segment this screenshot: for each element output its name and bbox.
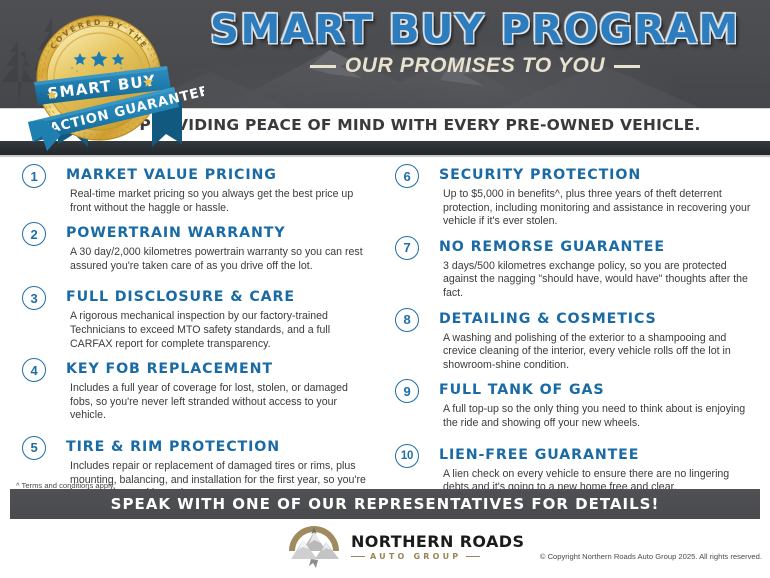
promise-item-6: 6 SECURITY PROTECTION Up to $5,000 in be… — [395, 165, 756, 229]
promise-heading-4: KEY FOB REPLACEMENT — [66, 359, 371, 379]
promise-number-4: 4 — [22, 358, 46, 382]
promises-content: 1 MARKET VALUE PRICING Real-time market … — [0, 157, 770, 475]
promise-number-5: 5 — [22, 436, 46, 460]
promise-item-1: 1 MARKET VALUE PRICING Real-time market … — [22, 165, 371, 215]
promise-body-9: A full top-up so the only thing you need… — [439, 403, 756, 430]
promise-body-7: 3 days/500 kilometres exchange policy, s… — [439, 260, 756, 301]
promise-heading-9: FULL TANK OF GAS — [439, 380, 756, 400]
logo-line-2-text: AUTO GROUP — [370, 553, 461, 561]
northern-roads-logo: NORTHERN ROADS AUTO GROUP — [285, 525, 524, 569]
promises-column-left: 1 MARKET VALUE PRICING Real-time market … — [0, 165, 385, 475]
page-footer: NORTHERN ROADS AUTO GROUP © Copyright No… — [0, 519, 770, 578]
promise-heading-5: TIRE & RIM PROTECTION — [66, 437, 371, 457]
promise-number-2: 2 — [22, 222, 46, 246]
promise-item-10: 10 LIEN-FREE GUARANTEE A lien check on e… — [395, 445, 756, 495]
promise-heading-7: NO REMORSE GUARANTEE — [439, 237, 756, 257]
subtitle-left-dash — [310, 65, 336, 68]
smart-buy-program-page: SMART BUY PROGRAM OUR PROMISES TO YOU PR… — [0, 0, 770, 578]
promise-number-3: 3 — [22, 286, 46, 310]
cta-banner[interactable]: SPEAK WITH ONE OF OUR REPRESENTATIVES FO… — [10, 489, 760, 519]
header-title-block: SMART BUY PROGRAM OUR PROMISES TO YOU — [190, 8, 760, 78]
promise-body-6: Up to $5,000 in benefits^, plus three ye… — [439, 188, 756, 229]
promise-body-8: A washing and polishing of the exterior … — [439, 332, 756, 373]
promise-number-8: 8 — [395, 308, 419, 332]
smart-buy-satisfaction-guarantee-badge: COVERED BY THE SMART BUY — [14, 4, 204, 154]
promise-item-7: 7 NO REMORSE GUARANTEE 3 days/500 kilome… — [395, 237, 756, 301]
promise-heading-2: POWERTRAIN WARRANTY — [66, 223, 371, 243]
promise-number-7: 7 — [395, 236, 419, 260]
page-title: SMART BUY PROGRAM — [190, 8, 760, 52]
guarantee-seal-icon: COVERED BY THE SMART BUY — [14, 4, 204, 154]
logo-line-2: AUTO GROUP — [351, 553, 524, 561]
promise-heading-3: FULL DISCLOSURE & CARE — [66, 287, 371, 307]
promise-item-9: 9 FULL TANK OF GAS A full top-up so the … — [395, 380, 756, 430]
promise-item-3: 3 FULL DISCLOSURE & CARE A rigorous mech… — [22, 287, 371, 351]
promise-body-3: A rigorous mechanical inspection by our … — [66, 310, 371, 351]
copyright-text: © Copyright Northern Roads Auto Group 20… — [540, 552, 762, 561]
subtitle-text: OUR PROMISES TO YOU — [345, 54, 605, 78]
logo-rule-left — [351, 556, 365, 557]
promise-heading-1: MARKET VALUE PRICING — [66, 165, 371, 185]
promise-body-4: Includes a full year of coverage for los… — [66, 382, 371, 423]
promise-heading-6: SECURITY PROTECTION — [439, 165, 756, 185]
promise-heading-10: LIEN-FREE GUARANTEE — [439, 445, 756, 465]
logo-line-1: NORTHERN ROADS — [351, 534, 524, 550]
promise-body-2: A 30 day/2,000 kilometres powertrain war… — [66, 246, 371, 273]
cta-text: SPEAK WITH ONE OF OUR REPRESENTATIVES FO… — [111, 495, 660, 513]
promise-number-10: 10 — [395, 444, 419, 468]
promise-number-1: 1 — [22, 164, 46, 188]
mountain-compass-logo-icon — [285, 525, 343, 569]
promises-column-right: 6 SECURITY PROTECTION Up to $5,000 in be… — [385, 165, 770, 475]
header-subtitle: OUR PROMISES TO YOU — [190, 54, 760, 78]
logo-rule-right — [466, 556, 480, 557]
promise-body-1: Real-time market pricing so you always g… — [66, 188, 371, 215]
promise-number-6: 6 — [395, 164, 419, 188]
subtitle-right-dash — [614, 65, 640, 68]
promise-number-9: 9 — [395, 379, 419, 403]
promise-item-2: 2 POWERTRAIN WARRANTY A 30 day/2,000 kil… — [22, 223, 371, 273]
logo-wordmark: NORTHERN ROADS AUTO GROUP — [351, 534, 524, 561]
promise-item-8: 8 DETAILING & COSMETICS A washing and po… — [395, 309, 756, 373]
promise-heading-8: DETAILING & COSMETICS — [439, 309, 756, 329]
promise-item-4: 4 KEY FOB REPLACEMENT Includes a full ye… — [22, 359, 371, 423]
